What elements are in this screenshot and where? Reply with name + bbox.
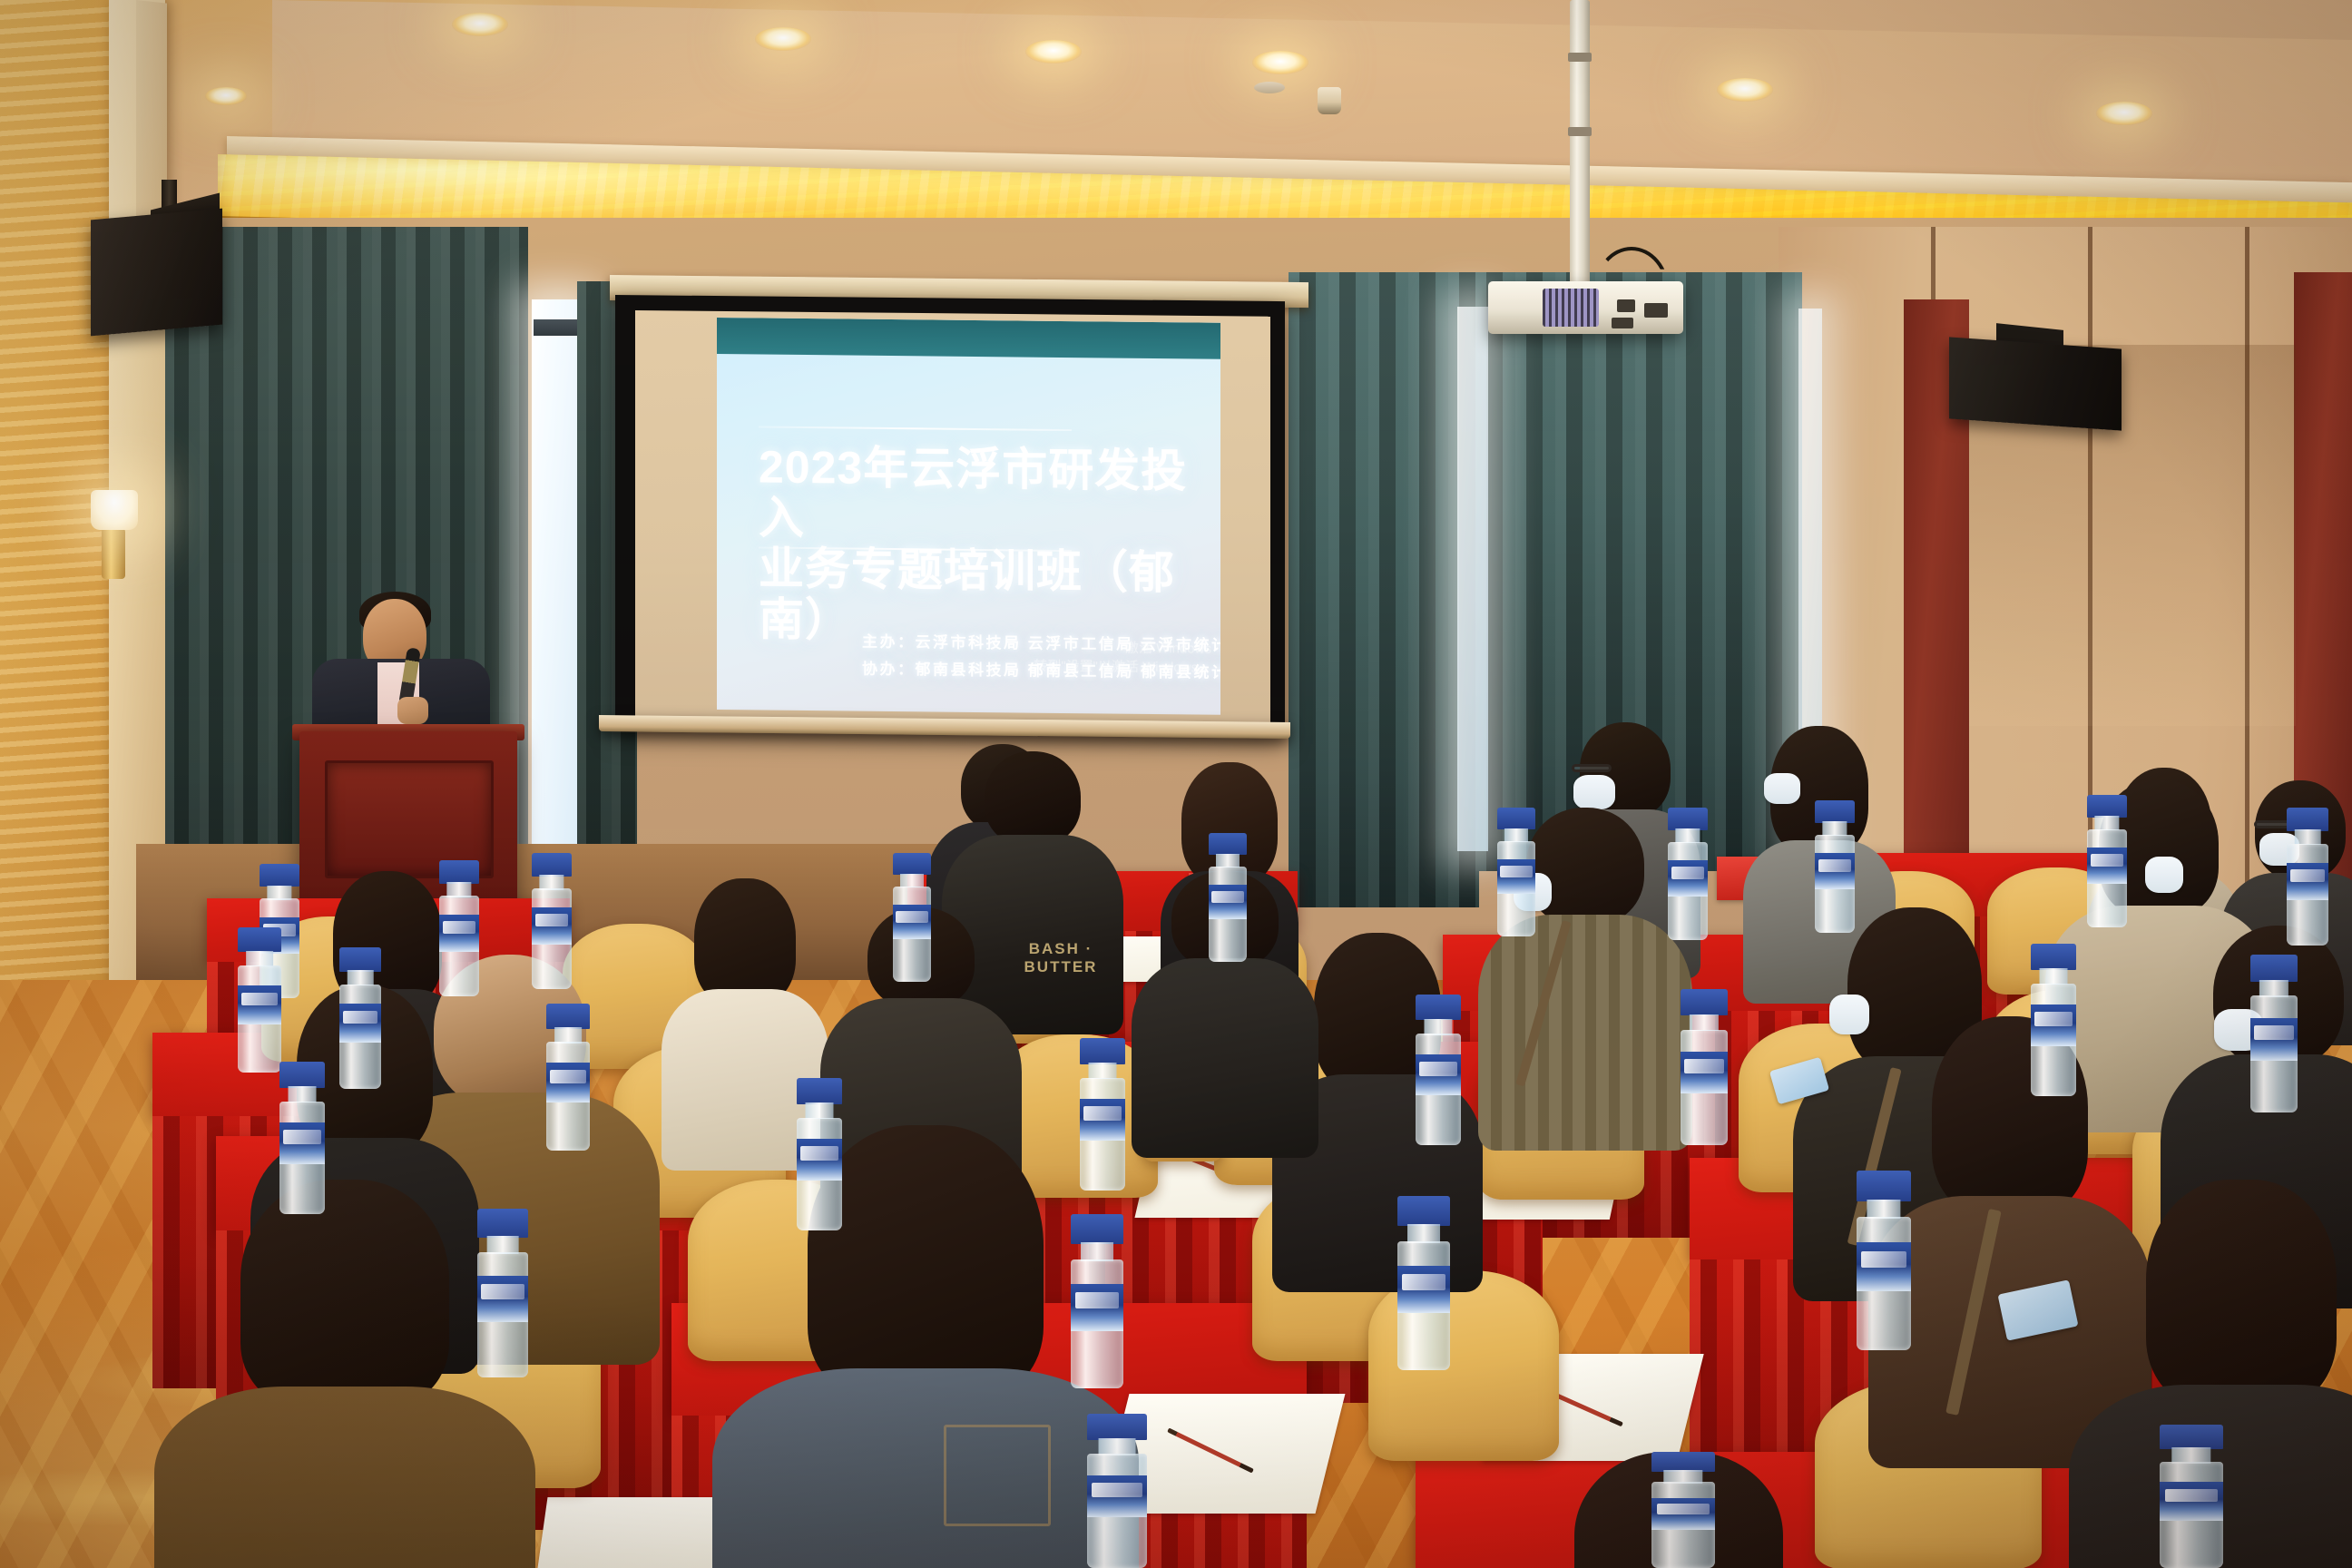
- head: [240, 1180, 449, 1406]
- bottle-label: [1681, 1052, 1728, 1093]
- water-bottle-14: [1497, 808, 1535, 936]
- water-bottle-23: [1397, 1196, 1450, 1370]
- downlight-1: [452, 13, 508, 36]
- bottle-neck: [2094, 816, 2119, 830]
- bottle-label: [1815, 853, 1855, 888]
- bottle-cap: [279, 1062, 325, 1088]
- bottle-label: [238, 985, 281, 1024]
- bottle-label: [1209, 885, 1247, 919]
- water-bottle-13: [1209, 833, 1247, 962]
- water-bottle-21: [2031, 944, 2076, 1096]
- downlight-2: [755, 27, 811, 51]
- bottle-cap: [532, 853, 572, 877]
- water-bottle-5: [279, 1062, 325, 1214]
- projector-pole-band-1: [1568, 53, 1592, 62]
- projector-pole-band-2: [1568, 127, 1592, 136]
- bottle-cap: [439, 860, 479, 884]
- projector-port-1: [1617, 299, 1635, 312]
- bottle-neck: [1675, 828, 1700, 843]
- bottle-label: [2287, 863, 2328, 900]
- glasses-icon: [1572, 764, 1612, 772]
- bottle-cap: [1497, 808, 1535, 829]
- water-bottle-8: [477, 1209, 528, 1377]
- water-bottle-7: [546, 1004, 590, 1151]
- bottle-cap: [1668, 808, 1708, 830]
- slide-title: 2023年云浮市研发投入 业务专题培训班（郁南）: [759, 441, 1194, 649]
- water-bottle-17: [2087, 795, 2127, 927]
- bottle-cap: [339, 947, 381, 972]
- bottle-cap: [260, 864, 299, 887]
- downlight-7: [205, 87, 247, 105]
- water-bottle-19: [1416, 995, 1461, 1145]
- downlight-5: [1717, 78, 1773, 102]
- watermark-line1: 激活 Windows: [1034, 637, 1211, 659]
- bottle-label: [893, 905, 931, 939]
- water-bottle-18: [2287, 808, 2328, 946]
- torso-brown: [154, 1387, 535, 1568]
- denim-pocket: [944, 1425, 1051, 1526]
- conference-room-photo: 2023年云浮市研发投入 业务专题培训班（郁南） 主办：云浮市科技局 云浮市工信…: [0, 0, 2352, 1568]
- water-bottle-2: [439, 860, 479, 996]
- bottle-label: [339, 1004, 381, 1042]
- bottle-label: [1668, 860, 1708, 896]
- water-bottle-10: [1080, 1038, 1125, 1191]
- bottle-cap: [1857, 1171, 1911, 1201]
- bottle-neck: [2171, 1447, 2210, 1463]
- windows-activation-watermark: 激活 Windows 转到"设置"以激活 Windows。: [1034, 637, 1211, 679]
- smoke-detector-icon: [1254, 82, 1285, 93]
- bottle-cap: [1651, 1452, 1715, 1472]
- bottle-neck: [1086, 1237, 1119, 1256]
- projector-port-2: [1644, 303, 1668, 318]
- downlight-4: [1252, 51, 1308, 74]
- bottle-neck: [1504, 828, 1528, 843]
- water-bottle-28: [2160, 1425, 2223, 1568]
- water-bottle-26: [1087, 1414, 1147, 1568]
- projected-slide: 2023年云浮市研发投入 业务专题培训班（郁南） 主办：云浮市科技局 云浮市工信…: [717, 318, 1220, 715]
- ceiling-speaker-left-icon: [91, 209, 222, 337]
- bottle-neck: [1822, 821, 1847, 836]
- curtain-center: [1289, 272, 1479, 907]
- bottle-cap: [2287, 808, 2328, 831]
- bottle-cap: [1397, 1196, 1450, 1226]
- bottle-label: [1397, 1266, 1450, 1313]
- watermark-line2: 转到"设置"以激活 Windows。: [1034, 657, 1211, 679]
- bottle-label: [1087, 1475, 1147, 1517]
- water-bottle-12: [893, 853, 931, 982]
- face-mask: [1764, 773, 1800, 804]
- water-bottle-24: [1857, 1171, 1911, 1350]
- head: [694, 878, 796, 1005]
- bottle-label: [1080, 1099, 1125, 1140]
- bottle-cap: [1209, 833, 1247, 855]
- bottle-neck: [348, 970, 374, 985]
- water-bottle-22: [2250, 955, 2298, 1112]
- denim-jacket: [712, 1368, 1139, 1568]
- bottle-neck: [554, 1027, 582, 1044]
- attendee-right-front: [2114, 1180, 2352, 1568]
- head: [985, 751, 1081, 846]
- head: [808, 1125, 1044, 1397]
- bottle-label: [1651, 1498, 1715, 1530]
- slide-rule-top: [759, 426, 1072, 431]
- slide-title-line1: 2023年云浮市研发投入: [759, 441, 1194, 547]
- bottle-cap: [477, 1209, 528, 1238]
- bottle-label: [1857, 1242, 1911, 1290]
- wall-speaker-right-icon: [1949, 337, 2122, 430]
- bottle-neck: [289, 1086, 317, 1102]
- face-mask: [1573, 775, 1615, 809]
- bottle-cap: [1681, 989, 1728, 1015]
- wall-sconce-icon: [91, 490, 138, 530]
- window-blind-left: [534, 319, 581, 336]
- bottle-neck: [1099, 1438, 1136, 1455]
- bottle-label: [477, 1276, 528, 1321]
- bottle-cap: [546, 1004, 590, 1029]
- bottle-label: [1497, 859, 1535, 894]
- downlight-3: [1025, 40, 1082, 64]
- bottle-label: [2031, 1004, 2076, 1045]
- bottle-neck: [1690, 1014, 1719, 1032]
- water-bottle-9: [797, 1078, 842, 1230]
- bottle-label: [532, 907, 572, 945]
- jacket-print-bash-butter: BASH · BUTTER: [993, 940, 1129, 976]
- downlight-6: [2096, 102, 2152, 125]
- sprinkler-head-icon: [1318, 87, 1341, 114]
- water-bottle-6: [339, 947, 381, 1089]
- bottle-neck: [1425, 1019, 1453, 1035]
- bottle-neck: [2295, 829, 2321, 845]
- window-daylight-left: [532, 299, 583, 935]
- water-bottle-16: [1815, 800, 1855, 933]
- bottle-label: [797, 1139, 842, 1180]
- bottle-cap: [2087, 795, 2127, 818]
- bottle-neck: [1089, 1063, 1117, 1079]
- bottle-label: [2160, 1482, 2223, 1521]
- bottle-cap: [238, 927, 281, 952]
- bottle-neck: [2259, 980, 2288, 997]
- face-mask: [1829, 995, 1869, 1034]
- torso: [1132, 958, 1318, 1158]
- presenter-hand: [397, 697, 428, 724]
- bottle-label: [439, 915, 479, 952]
- sconce-arm: [102, 528, 125, 579]
- window-daylight-right: [1457, 307, 1488, 851]
- bottle-label: [1076, 1279, 1129, 1326]
- head: [2146, 1180, 2337, 1406]
- bottle-neck: [487, 1236, 519, 1254]
- bottle-neck: [1216, 854, 1240, 868]
- bottle-cap: [1815, 800, 1855, 823]
- bottle-cap: [1076, 1209, 1129, 1239]
- bottle-neck: [1407, 1224, 1440, 1243]
- projector-mount-pole: [1570, 0, 1590, 287]
- bottle-cap: [797, 1078, 842, 1104]
- attendee-left-2: [677, 878, 813, 1132]
- water-bottle-15: [1668, 808, 1708, 940]
- bottle-label: [1416, 1054, 1461, 1095]
- bottle-neck: [900, 874, 924, 888]
- bottle-label: [279, 1122, 325, 1163]
- projector-port-3: [1612, 318, 1633, 328]
- bottle-label: [2250, 1018, 2298, 1061]
- bottle-label: [546, 1063, 590, 1102]
- bottle-cap: [2031, 944, 2076, 970]
- water-bottle-27: [1651, 1452, 1715, 1568]
- attendee-front-left: [200, 1180, 490, 1568]
- bottle-label: [2087, 848, 2127, 883]
- attendee-right-phone-1: [1906, 1016, 2114, 1416]
- water-bottle-20: [1681, 989, 1728, 1145]
- water-bottle-3: [532, 853, 572, 989]
- bottle-neck: [246, 951, 273, 967]
- bottle-cap: [2250, 955, 2298, 982]
- bottle-cap: [1416, 995, 1461, 1020]
- bottle-neck: [2040, 968, 2068, 985]
- face-mask: [2145, 857, 2183, 893]
- bottle-cap: [2160, 1425, 2223, 1449]
- bottle-cap: [1080, 1038, 1125, 1064]
- torso-checked: [1478, 915, 1692, 1151]
- bottle-cap: [893, 853, 931, 875]
- water-bottle-4: [238, 927, 281, 1073]
- bottle-cap: [1087, 1414, 1147, 1440]
- bottle-neck: [1867, 1200, 1900, 1220]
- bottle-neck: [806, 1102, 834, 1119]
- projector-vent: [1543, 289, 1599, 327]
